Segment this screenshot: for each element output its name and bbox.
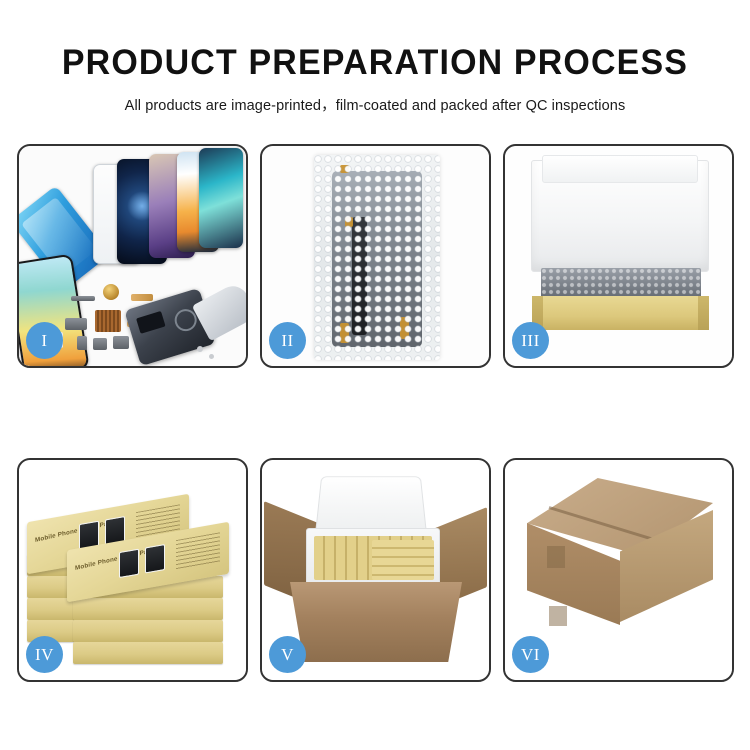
process-step-grid: I II I xyxy=(17,144,734,684)
bracket-part-4 xyxy=(93,338,107,350)
bracket-part-3 xyxy=(77,336,87,350)
process-step-3: III xyxy=(503,144,734,368)
kraft-box-front xyxy=(532,296,709,330)
box-stack: Mobile Phone Spare Parts Mobile Phone Sp… xyxy=(27,480,239,670)
header: PRODUCT PREPARATION PROCESS All products… xyxy=(0,0,750,115)
yellow-boxes-row-2 xyxy=(372,540,434,580)
bracket-part-1 xyxy=(71,296,95,301)
phone-screen-teal xyxy=(199,148,243,248)
bracket-part-5 xyxy=(113,336,129,349)
copper-grid-part xyxy=(95,310,121,332)
carton-tape-lower xyxy=(549,606,567,626)
step-badge-4: IV xyxy=(26,636,63,673)
bracket-part-2 xyxy=(65,318,87,330)
step-badge-3: III xyxy=(512,322,549,359)
page-title: PRODUCT PREPARATION PROCESS xyxy=(11,45,739,80)
stacked-box-7 xyxy=(73,620,223,642)
box-spec-lines-second xyxy=(176,532,220,570)
step-badge-5: V xyxy=(269,636,306,673)
process-step-6: VI xyxy=(503,458,734,682)
foam-lid xyxy=(531,160,709,272)
process-step-1: I xyxy=(17,144,248,368)
box-thumb-3 xyxy=(119,549,139,579)
bubble-wrap-bag xyxy=(314,155,440,360)
step-badge-1: I xyxy=(26,322,63,359)
process-step-4: Mobile Phone Spare Parts Mobile Phone Sp… xyxy=(17,458,248,682)
process-step-5: V xyxy=(260,458,491,682)
speaker-part xyxy=(103,284,119,300)
flex-cable-part-1 xyxy=(131,294,153,301)
product-preparation-infographic: PRODUCT PREPARATION PROCESS All products… xyxy=(0,0,750,750)
carton-body xyxy=(290,582,462,662)
screw-part-1 xyxy=(197,346,203,352)
page-subtitle: All products are image-printed，film-coat… xyxy=(0,94,750,115)
process-step-2: II xyxy=(260,144,491,368)
box-thumb-4 xyxy=(145,544,165,574)
bubble-texture xyxy=(314,155,440,360)
step-badge-2: II xyxy=(269,322,306,359)
carton-tape-upper xyxy=(547,546,565,568)
bubble-wrap-fill xyxy=(541,268,701,298)
screw-part-2 xyxy=(209,354,214,359)
stacked-box-8 xyxy=(73,642,223,664)
stacked-box-6 xyxy=(73,598,223,620)
step-badge-6: VI xyxy=(512,636,549,673)
